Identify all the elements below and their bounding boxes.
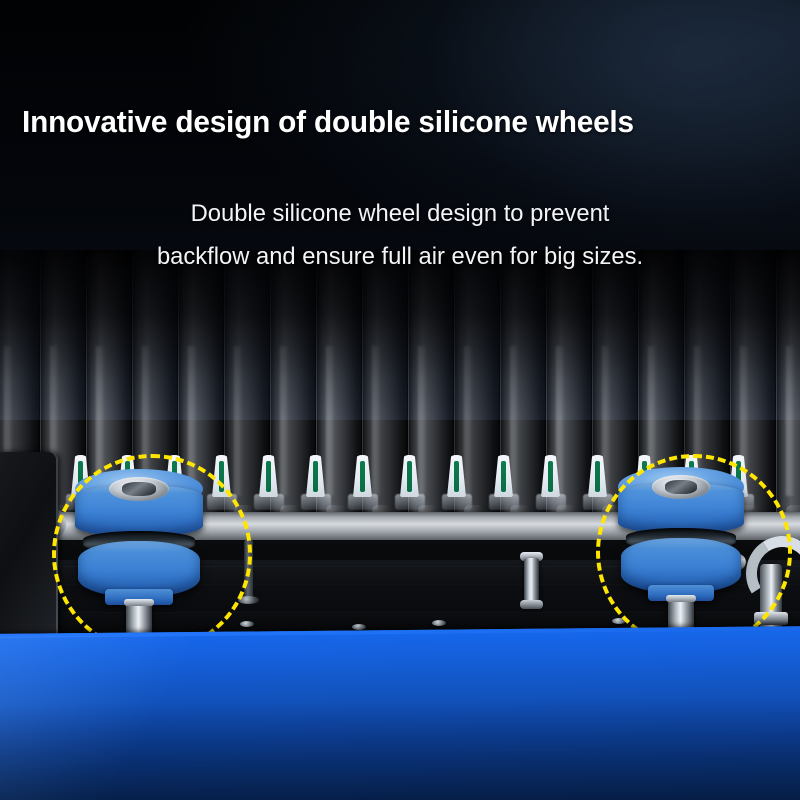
right-silicone-wheel-highlight (596, 454, 792, 650)
promo-image-canvas: Innovative design of double silicone whe… (0, 0, 800, 800)
base-bottom-shading (0, 696, 800, 800)
left-silicone-wheel-highlight (52, 454, 252, 654)
page-title: Innovative design of double silicone whe… (22, 104, 752, 140)
subtitle-line-1: Double silicone wheel design to prevent (12, 192, 788, 235)
page-subtitle: Double silicone wheel design to prevent … (12, 192, 788, 278)
subtitle-line-2: backflow and ensure full air even for bi… (12, 235, 788, 278)
